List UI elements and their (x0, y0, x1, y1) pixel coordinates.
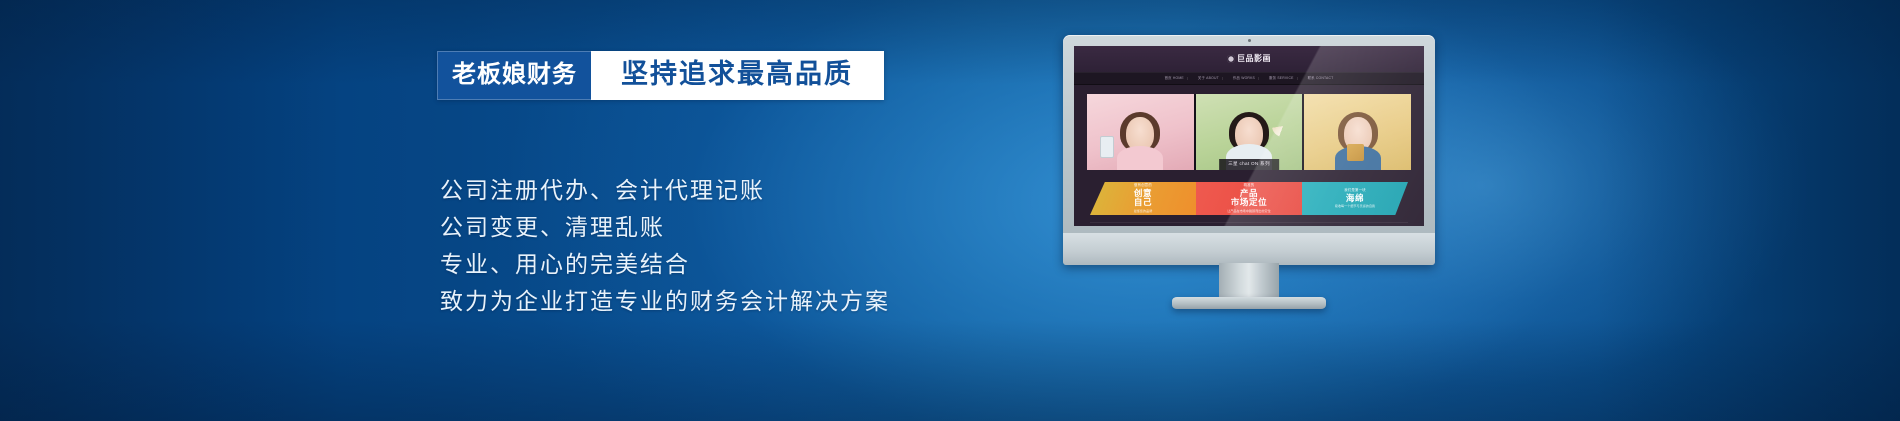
service-line: 公司变更、清理乱账 (440, 209, 890, 246)
panel-subtext: 让产品在市场中脱颖而出的定位 (1227, 210, 1270, 213)
webcam-icon (1248, 39, 1251, 42)
website-logo: 巨品影画 (1227, 55, 1271, 63)
nav-item-about[interactable]: 关于 ABOUT (1195, 77, 1223, 80)
panel-eyebrow: 我们是第一块 (1344, 189, 1366, 192)
feature-panel-positioning[interactable]: 精准的 产品 市场定位 让产品在市场中脱颖而出的定位 (1196, 182, 1302, 215)
website-preview: 巨品影画 首页 HOME 关于 ABOUT 作品 WORKS 服务 SERVIC… (1074, 46, 1424, 226)
monitor-screen: 巨品影画 首页 HOME 关于 ABOUT 作品 WORKS 服务 SERVIC… (1074, 46, 1424, 226)
promo-banner: 老板娘财务 坚持追求最高品质 公司注册代办、会计代理记账 公司变更、清理乱账 专… (0, 0, 1900, 421)
box-prop-icon (1347, 144, 1364, 161)
feature-panel-creative[interactable]: 做有创意的 创意 自己 最懂您的品牌 (1090, 182, 1196, 215)
panel-title-2: 自己 (1134, 198, 1152, 207)
monitor-stand-neck (1219, 263, 1279, 299)
brand-name: 老板娘财务 (437, 51, 591, 100)
monitor-chin (1063, 233, 1435, 265)
hero-photo[interactable] (1304, 94, 1411, 170)
nav-item-home[interactable]: 首页 HOME (1162, 77, 1188, 80)
monitor-stand-foot (1172, 297, 1326, 309)
imac-mockup: 巨品影画 首页 HOME 关于 ABOUT 作品 WORKS 服务 SERVIC… (1063, 35, 1435, 315)
nav-item-works[interactable]: 作品 WORKS (1230, 77, 1259, 80)
feature-panels: 做有创意的 创意 自己 最懂您的品牌 精准的 产品 市场定位 让产品在市场中脱颖… (1090, 182, 1408, 215)
hero-photo[interactable] (1087, 94, 1194, 170)
nav-item-service[interactable]: 服务 SERVICE (1266, 77, 1298, 80)
website-logo-text: 巨品影画 (1237, 55, 1271, 63)
panel-title: 海绵 (1346, 194, 1364, 203)
brand-slogan: 坚持追求最高品质 (591, 51, 884, 100)
headline-bar: 老板娘财务 坚持追求最高品质 (437, 51, 884, 100)
fan-prop-icon (1272, 115, 1294, 137)
feature-panel-sponge[interactable]: 我们是第一块 海绵 吸收每一个细节与灵感的自我 (1302, 182, 1408, 215)
nav-item-contact[interactable]: 联系 CONTACT (1305, 77, 1337, 80)
service-line: 公司注册代办、会计代理记账 (440, 172, 890, 209)
panel-subtext: 最懂您的品牌 (1134, 210, 1153, 213)
hero-gallery: 三星 chat ON 系列 (1087, 94, 1411, 170)
service-line: 专业、用心的完美结合 (440, 246, 890, 283)
website-nav: 首页 HOME 关于 ABOUT 作品 WORKS 服务 SERVICE 联系 … (1074, 72, 1424, 85)
service-list: 公司注册代办、会计代理记账 公司变更、清理乱账 专业、用心的完美结合 致力为企业… (440, 172, 890, 320)
hero-caption: 三星 chat ON 系列 (1219, 159, 1279, 170)
panel-eyebrow: 精准的 (1244, 184, 1255, 187)
website-footer: 服务项目 (1090, 222, 1408, 226)
photo-body (1117, 146, 1163, 170)
service-line: 致力为企业打造专业的财务会计解决方案 (440, 283, 890, 320)
panel-subtext: 吸收每一个细节与灵感的自我 (1335, 205, 1375, 208)
phone-prop-icon (1100, 136, 1114, 158)
panel-title-2: 市场定位 (1231, 198, 1267, 207)
website-header: 巨品影画 (1074, 46, 1424, 72)
panel-eyebrow: 做有创意的 (1134, 184, 1152, 187)
copy-block: 老板娘财务 坚持追求最高品质 公司注册代办、会计代理记账 公司变更、清理乱账 专… (0, 0, 900, 421)
camera-shutter-icon (1227, 55, 1235, 63)
